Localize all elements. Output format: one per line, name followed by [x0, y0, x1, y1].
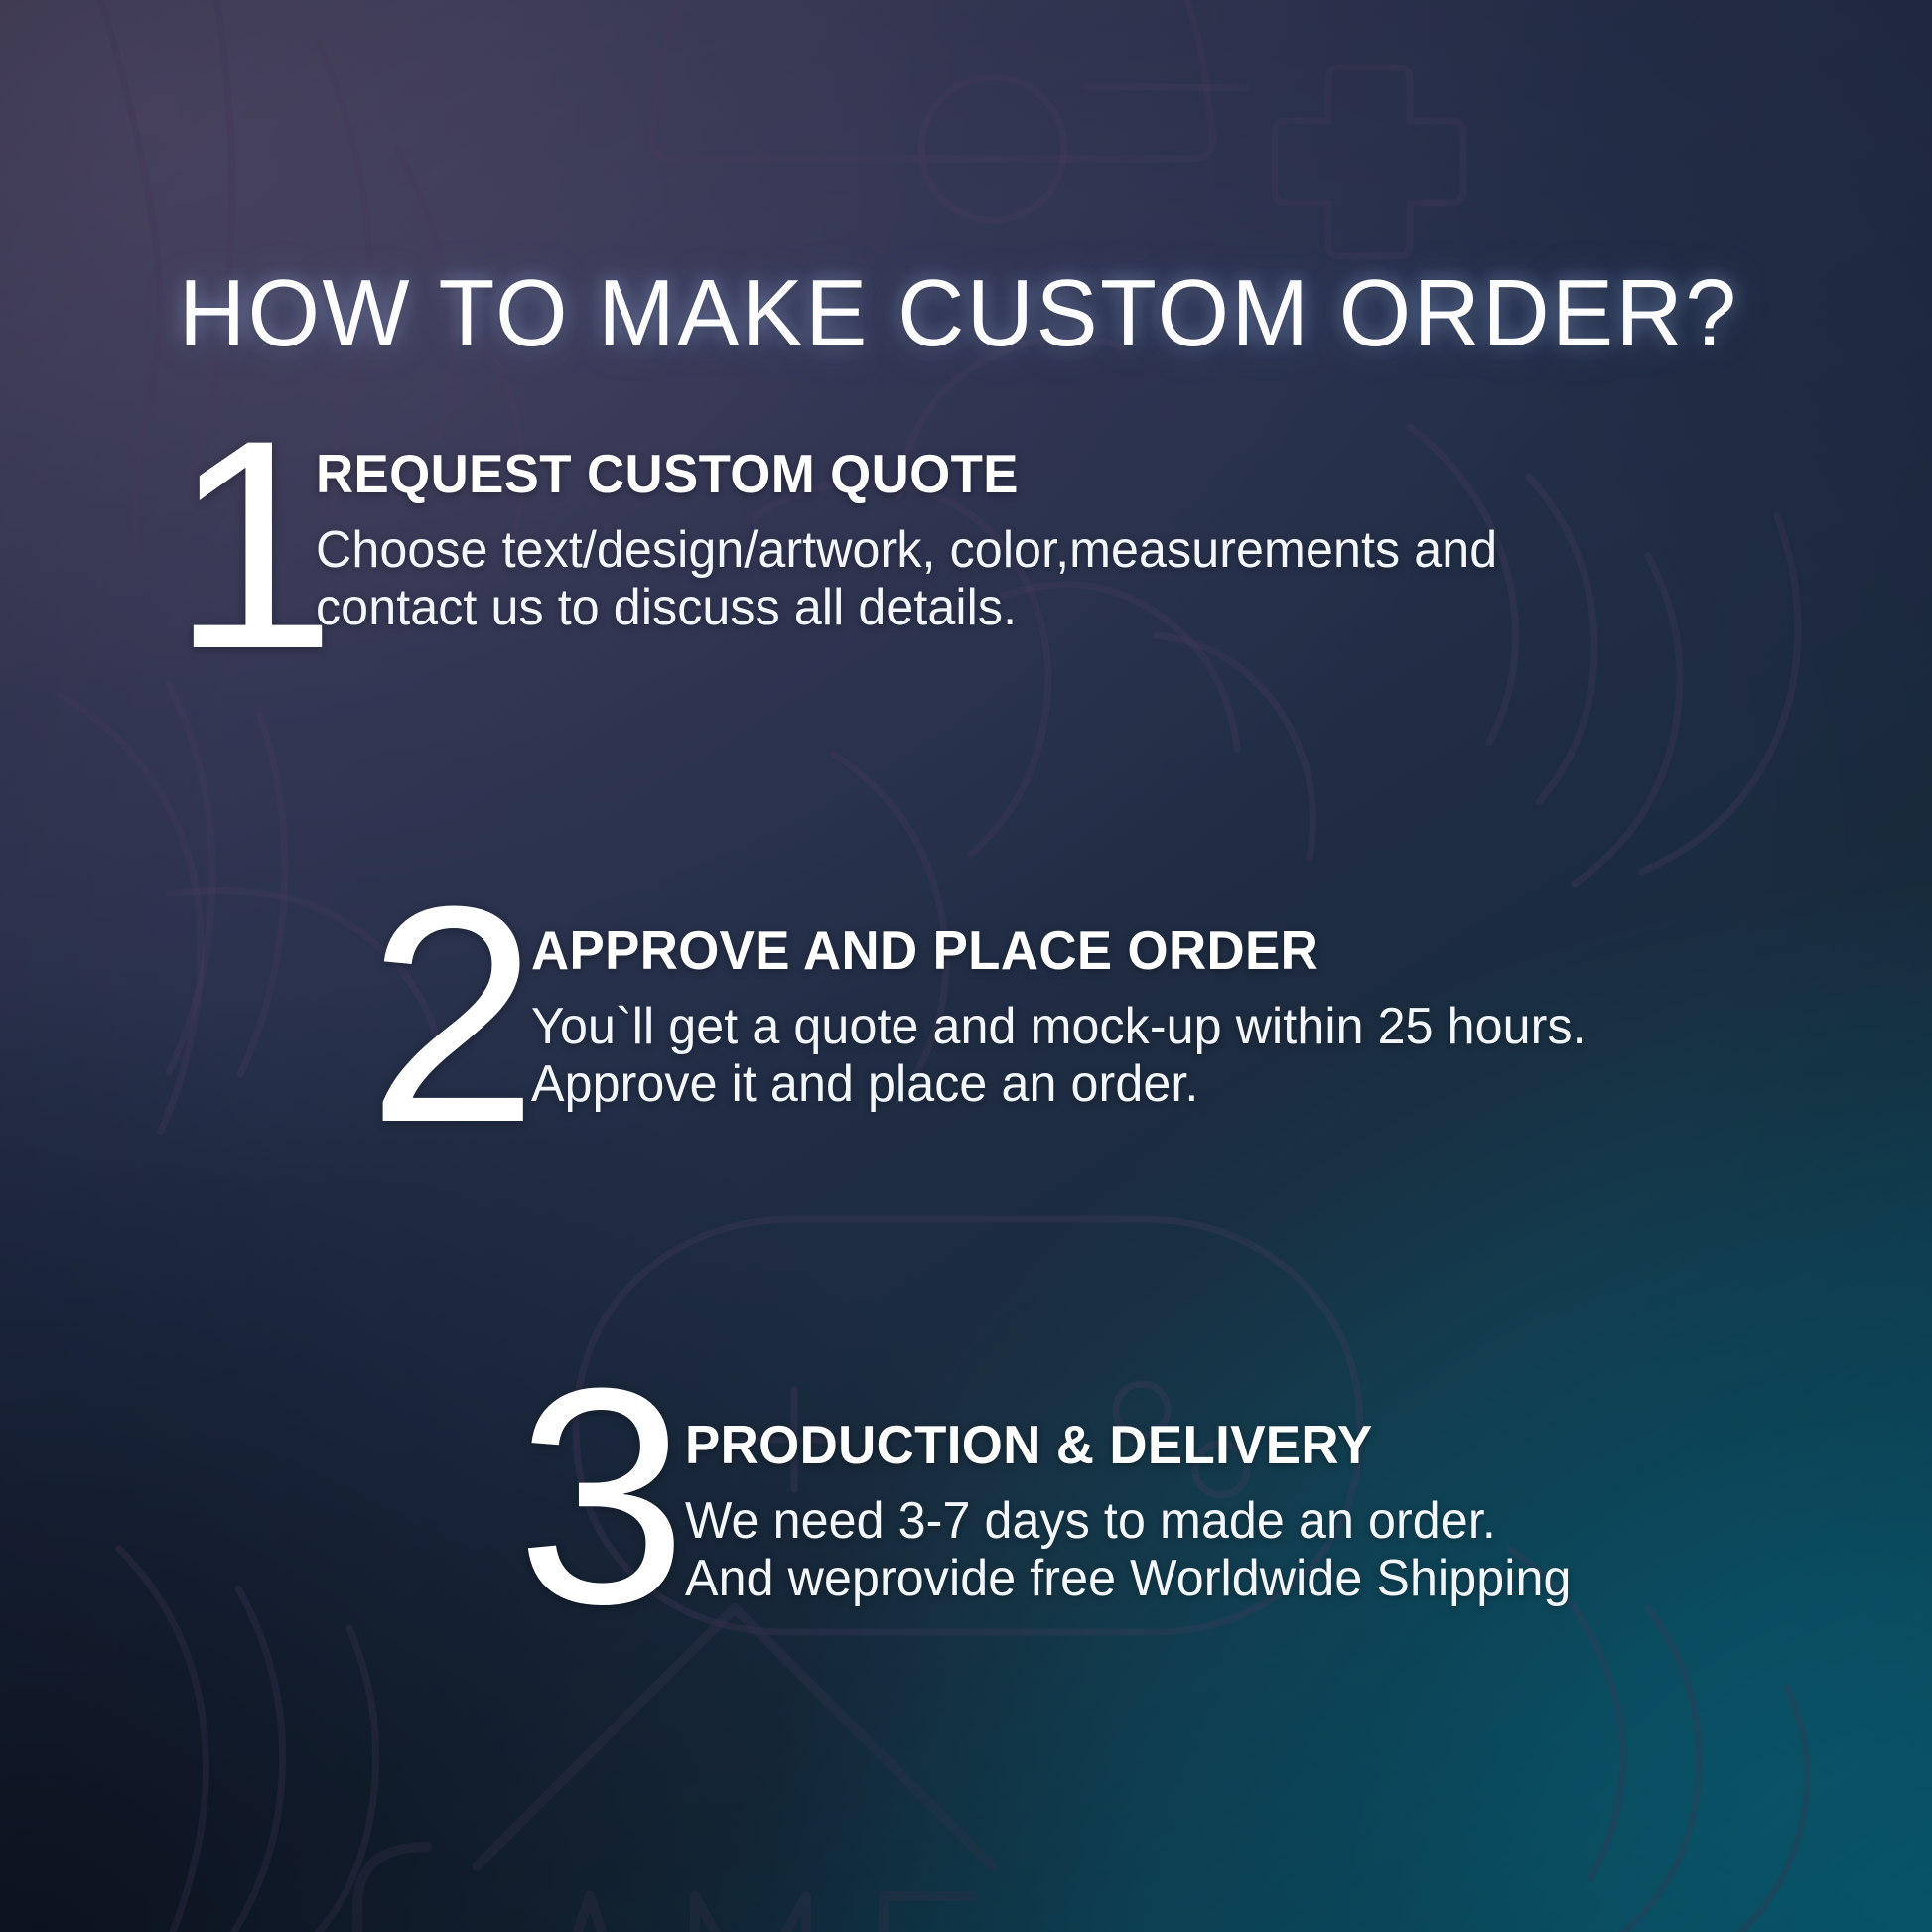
poster-canvas: HOW TO MAKE CUSTOM ORDER? 1 REQUEST CUST… — [0, 0, 1932, 1932]
step-body-line: contact us to discuss all details. — [316, 579, 1497, 636]
step-number-3: 3 — [516, 1370, 683, 1622]
step-body-line: You`ll get a quote and mock-up within 25… — [531, 998, 1587, 1055]
step-body-line: Approve it and place an order. — [531, 1055, 1587, 1113]
step-text-1: REQUEST CUSTOM QUOTE Choose text/design/… — [316, 447, 1540, 636]
step-body-1: Choose text/design/artwork, color,measur… — [316, 521, 1497, 636]
step-number-1: 1 — [171, 422, 333, 666]
step-body-line: And weprovide free Worldwide Shipping — [685, 1550, 1571, 1607]
step-heading-1: REQUEST CUSTOM QUOTE — [316, 447, 1491, 501]
step-body-line: We need 3-7 days to made an order. — [685, 1492, 1571, 1550]
step-body-3: We need 3-7 days to made an order. And w… — [685, 1492, 1571, 1607]
page-title: HOW TO MAKE CUSTOM ORDER? — [179, 266, 1738, 361]
step-text-3: PRODUCTION & DELIVERY We need 3-7 days t… — [685, 1418, 1603, 1607]
step-heading-3: PRODUCTION & DELIVERY — [685, 1418, 1567, 1472]
step-body-2: You`ll get a quote and mock-up within 25… — [531, 998, 1587, 1113]
poster-content: HOW TO MAKE CUSTOM ORDER? 1 REQUEST CUST… — [0, 0, 1932, 1932]
step-text-2: APPROVE AND PLACE ORDER You`ll get a quo… — [531, 923, 1624, 1113]
step-body-line: Choose text/design/artwork, color,measur… — [316, 521, 1497, 579]
step-number-2: 2 — [367, 889, 534, 1141]
step-heading-2: APPROVE AND PLACE ORDER — [531, 923, 1581, 978]
